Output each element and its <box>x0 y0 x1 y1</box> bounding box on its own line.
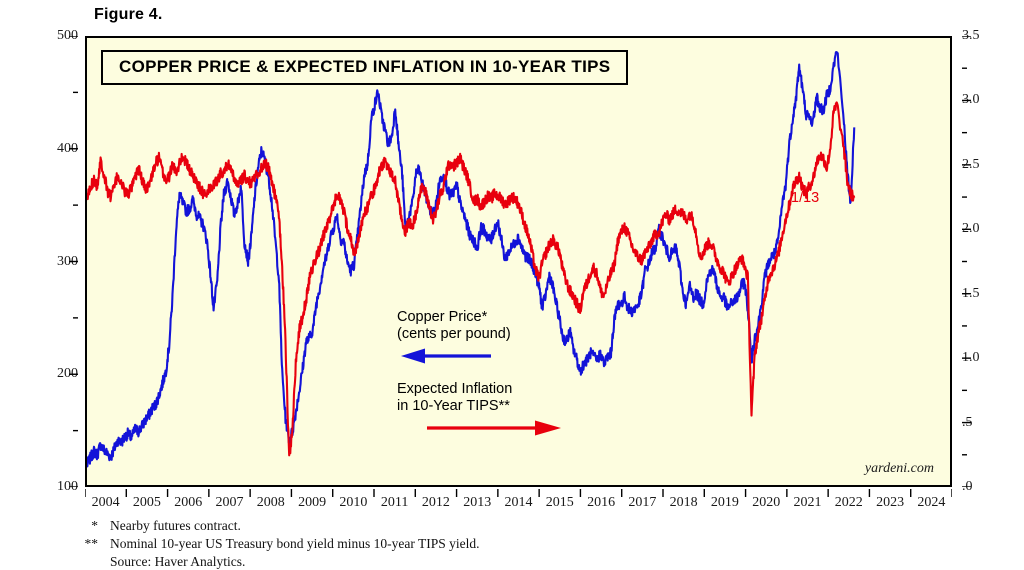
legend-copper-price: Copper Price* (cents per pound) <box>397 309 511 364</box>
footnote-row: **Nominal 10-year US Treasury bond yield… <box>58 535 958 553</box>
last-value-date-label: 1/13 <box>791 190 819 206</box>
chart-title: COPPER PRICE & EXPECTED INFLATION IN 10-… <box>119 57 610 77</box>
legend-expected-inflation: Expected Inflation in 10-Year TIPS** <box>397 381 565 436</box>
footnote-text: Nominal 10-year US Treasury bond yield m… <box>110 535 958 553</box>
chart-plot-area: COPPER PRICE & EXPECTED INFLATION IN 10-… <box>85 36 952 487</box>
left-arrow-icon <box>397 348 493 364</box>
chart-title-box: COPPER PRICE & EXPECTED INFLATION IN 10-… <box>101 50 628 85</box>
y-axis-left: 100200300400500 <box>28 36 78 487</box>
legend-copper-line1: Copper Price* <box>397 309 511 326</box>
figure-label: Figure 4. <box>94 6 162 24</box>
y-tick-marks-right <box>962 36 1018 487</box>
footnotes: *Nearby futures contract.**Nominal 10-ye… <box>58 517 958 570</box>
legend-tips-line2: in 10-Year TIPS** <box>397 398 565 415</box>
legend-copper-line2: (cents per pound) <box>397 326 511 343</box>
legend-tips-line1: Expected Inflation <box>397 381 565 398</box>
footnote-text: Source: Haver Analytics. <box>110 553 958 570</box>
footnote-row: Source: Haver Analytics. <box>58 553 958 570</box>
x-tick-marks <box>85 489 952 513</box>
footnote-marker <box>58 553 110 570</box>
right-arrow-icon <box>425 420 565 436</box>
footnote-row: *Nearby futures contract. <box>58 517 958 535</box>
footnote-text: Nearby futures contract. <box>110 517 958 535</box>
y-tick-marks-left <box>28 36 78 487</box>
x-axis: 2004200520062007200820092010201120122013… <box>85 489 952 513</box>
footnote-marker: * <box>58 517 110 535</box>
footnote-marker: ** <box>58 535 110 553</box>
y-axis-right: .0.51.01.52.02.53.03.5 <box>962 36 1018 487</box>
watermark-yardeni: yardeni.com <box>865 461 934 477</box>
